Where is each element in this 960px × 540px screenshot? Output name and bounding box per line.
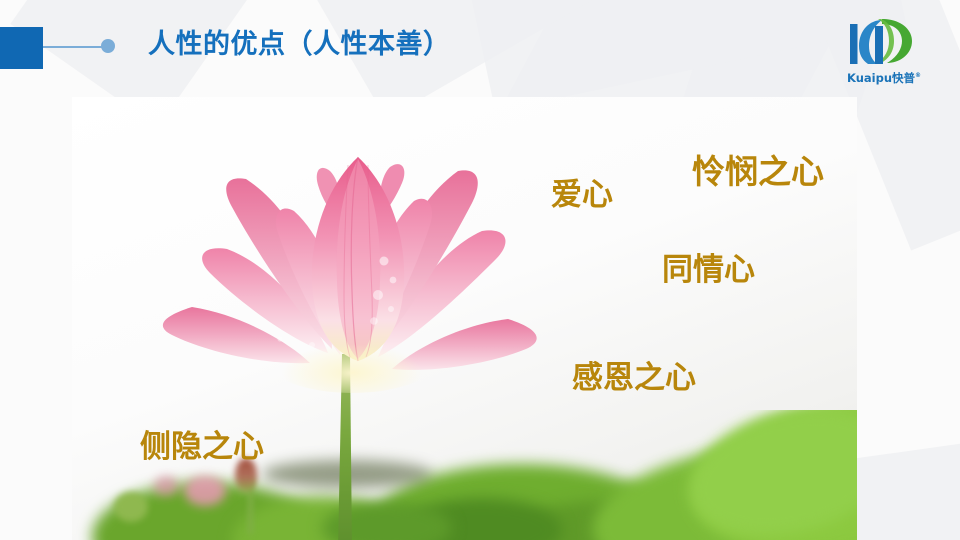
brand-chinese: 快普	[892, 71, 915, 85]
caption-lianmin: 怜悯之心	[692, 155, 824, 188]
title-connector-line	[43, 46, 105, 48]
caption-aixin: 爱心	[551, 180, 613, 211]
brand-logo: Kuaipu快普®	[830, 16, 938, 84]
caption-ganen: 感恩之心	[572, 363, 696, 394]
lotus-flower-illustration	[152, 149, 552, 540]
title-connector-dot	[101, 39, 115, 53]
caption-tongqing: 同情心	[662, 255, 755, 286]
brand-logo-text: Kuaipu快普®	[830, 70, 938, 86]
kuaipu-logo-icon	[848, 16, 922, 66]
slide-canvas: 人性的优点（人性本善） Kuaipu快普®	[0, 0, 960, 540]
caption-ceyin: 侧隐之心	[140, 432, 264, 463]
brand-latin: Kuaipu	[847, 71, 892, 85]
brand-registered-mark: ®	[915, 72, 921, 79]
title-accent-square	[0, 27, 43, 69]
page-title: 人性的优点（人性本善）	[148, 22, 451, 61]
